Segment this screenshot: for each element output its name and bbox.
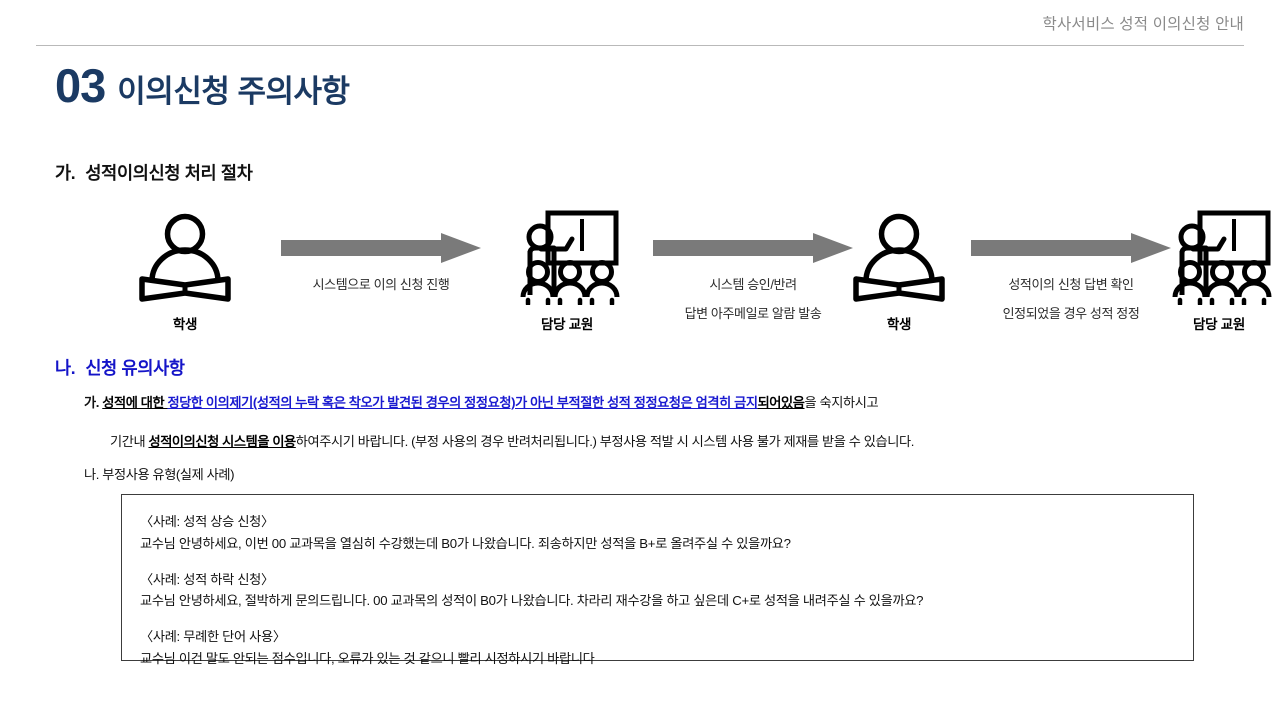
section-heading-process: 가.성적이의신청 처리 절차 xyxy=(55,160,253,185)
section-label-b: 신청 유의사항 xyxy=(85,358,184,378)
slide-header: 학사서비스 성적 이의신청 안내 xyxy=(0,0,1280,46)
example-heading: 〈사례: 성적 하락 신청〉 xyxy=(140,569,1193,591)
notice-a-part2: 정당한 이의제기(성적의 누락 혹은 착오가 발견된 경우의 정정요청)가 아닌… xyxy=(167,395,757,410)
example-heading: 〈사례: 무례한 단어 사용〉 xyxy=(140,626,1193,648)
slide-root: 학사서비스 성적 이의신청 안내 03 이의신청 주의사항 가.성적이의신청 처… xyxy=(0,0,1280,720)
notice-item-b: 나. 부정사용 유형(실제 사례) xyxy=(84,464,234,483)
flow-node-label: 담당 교원 xyxy=(492,313,642,333)
notice-item-a: 가. 성적에 대한 정당한 이의제기(성적의 누락 혹은 착오가 발견된 경우의… xyxy=(84,392,878,411)
teacher-icon xyxy=(1144,205,1280,305)
flow-connector-text-line1: 시스템으로 이의 신청 진행 xyxy=(262,274,500,297)
teacher-icon xyxy=(492,205,642,305)
flow-node-professor-2: 담당 교원 xyxy=(1144,205,1280,333)
flow-node-professor-1: 담당 교원 xyxy=(492,205,642,333)
section-heading-notice: 나.신청 유의사항 xyxy=(55,355,185,380)
example-body: 교수님 안녕하세요, 이번 00 교과목을 열심히 수강했는데 B0가 나왔습니… xyxy=(140,533,1193,555)
arrow-right-icon xyxy=(262,233,500,268)
flow-node-label: 담당 교원 xyxy=(1144,313,1280,333)
section-marker-b: 나. xyxy=(55,358,75,378)
page-title-text: 이의신청 주의사항 xyxy=(117,76,349,107)
example-item: 〈사례: 성적 하락 신청〉 교수님 안녕하세요, 절박하게 문의드립니다. 0… xyxy=(140,569,1193,613)
notice-item-a-line2: 기간내 성적이의신청 시스템을 이용하여주시기 바랍니다. (부정 사용의 경우… xyxy=(110,431,914,450)
example-item: 〈사례: 성적 상승 신청〉 교수님 안녕하세요, 이번 00 교과목을 열심히… xyxy=(140,511,1193,555)
example-body: 교수님 이건 말도 안되는 점수입니다, 오류가 있는 것 같으니 빨리 시정하… xyxy=(140,648,1193,670)
section-label-a: 성적이의신청 처리 절차 xyxy=(85,163,252,183)
section-marker-a: 가. xyxy=(55,163,75,183)
example-body: 교수님 안녕하세요, 절박하게 문의드립니다. 00 교과목의 성적이 B0가 … xyxy=(140,590,1193,612)
notice-a-part4: 을 숙지하시고 xyxy=(805,395,879,410)
notice-label-b: 부정사용 유형(실제 사례) xyxy=(102,467,234,482)
flow-connector-1: 시스템으로 이의 신청 진행 xyxy=(262,233,500,297)
example-item: 〈사례: 무례한 단어 사용〉 교수님 이건 말도 안되는 점수입니다, 오류가… xyxy=(140,626,1193,670)
notice-a2-post: 하여주시기 바랍니다. (부정 사용의 경우 반려처리됩니다.) 부정사용 적발… xyxy=(296,434,914,449)
header-divider xyxy=(36,45,1244,46)
notice-a2-pre: 기간내 xyxy=(110,434,148,449)
misuse-examples-box: 〈사례: 성적 상승 신청〉 교수님 안녕하세요, 이번 00 교과목을 열심히… xyxy=(121,494,1194,661)
example-heading: 〈사례: 성적 상승 신청〉 xyxy=(140,511,1193,533)
notice-a-part3: 되어있음 xyxy=(758,395,805,410)
header-title: 학사서비스 성적 이의신청 안내 xyxy=(1042,12,1244,34)
notice-a-part1: 성적에 대한 xyxy=(102,395,167,410)
page-title: 03 이의신청 주의사항 xyxy=(55,62,350,109)
page-title-number: 03 xyxy=(55,62,105,109)
flow-node-student-1: 학생 xyxy=(110,205,260,333)
notice-marker-a: 가. xyxy=(84,395,99,410)
flow-node-label: 학생 xyxy=(110,313,260,333)
notice-marker-b: 나. xyxy=(84,467,99,482)
notice-a2-bold: 성적이의신청 시스템을 이용 xyxy=(148,434,295,449)
student-icon xyxy=(110,205,260,305)
process-flow-diagram: 학생 시스템으로 이의 신청 진행 xyxy=(72,205,1208,345)
